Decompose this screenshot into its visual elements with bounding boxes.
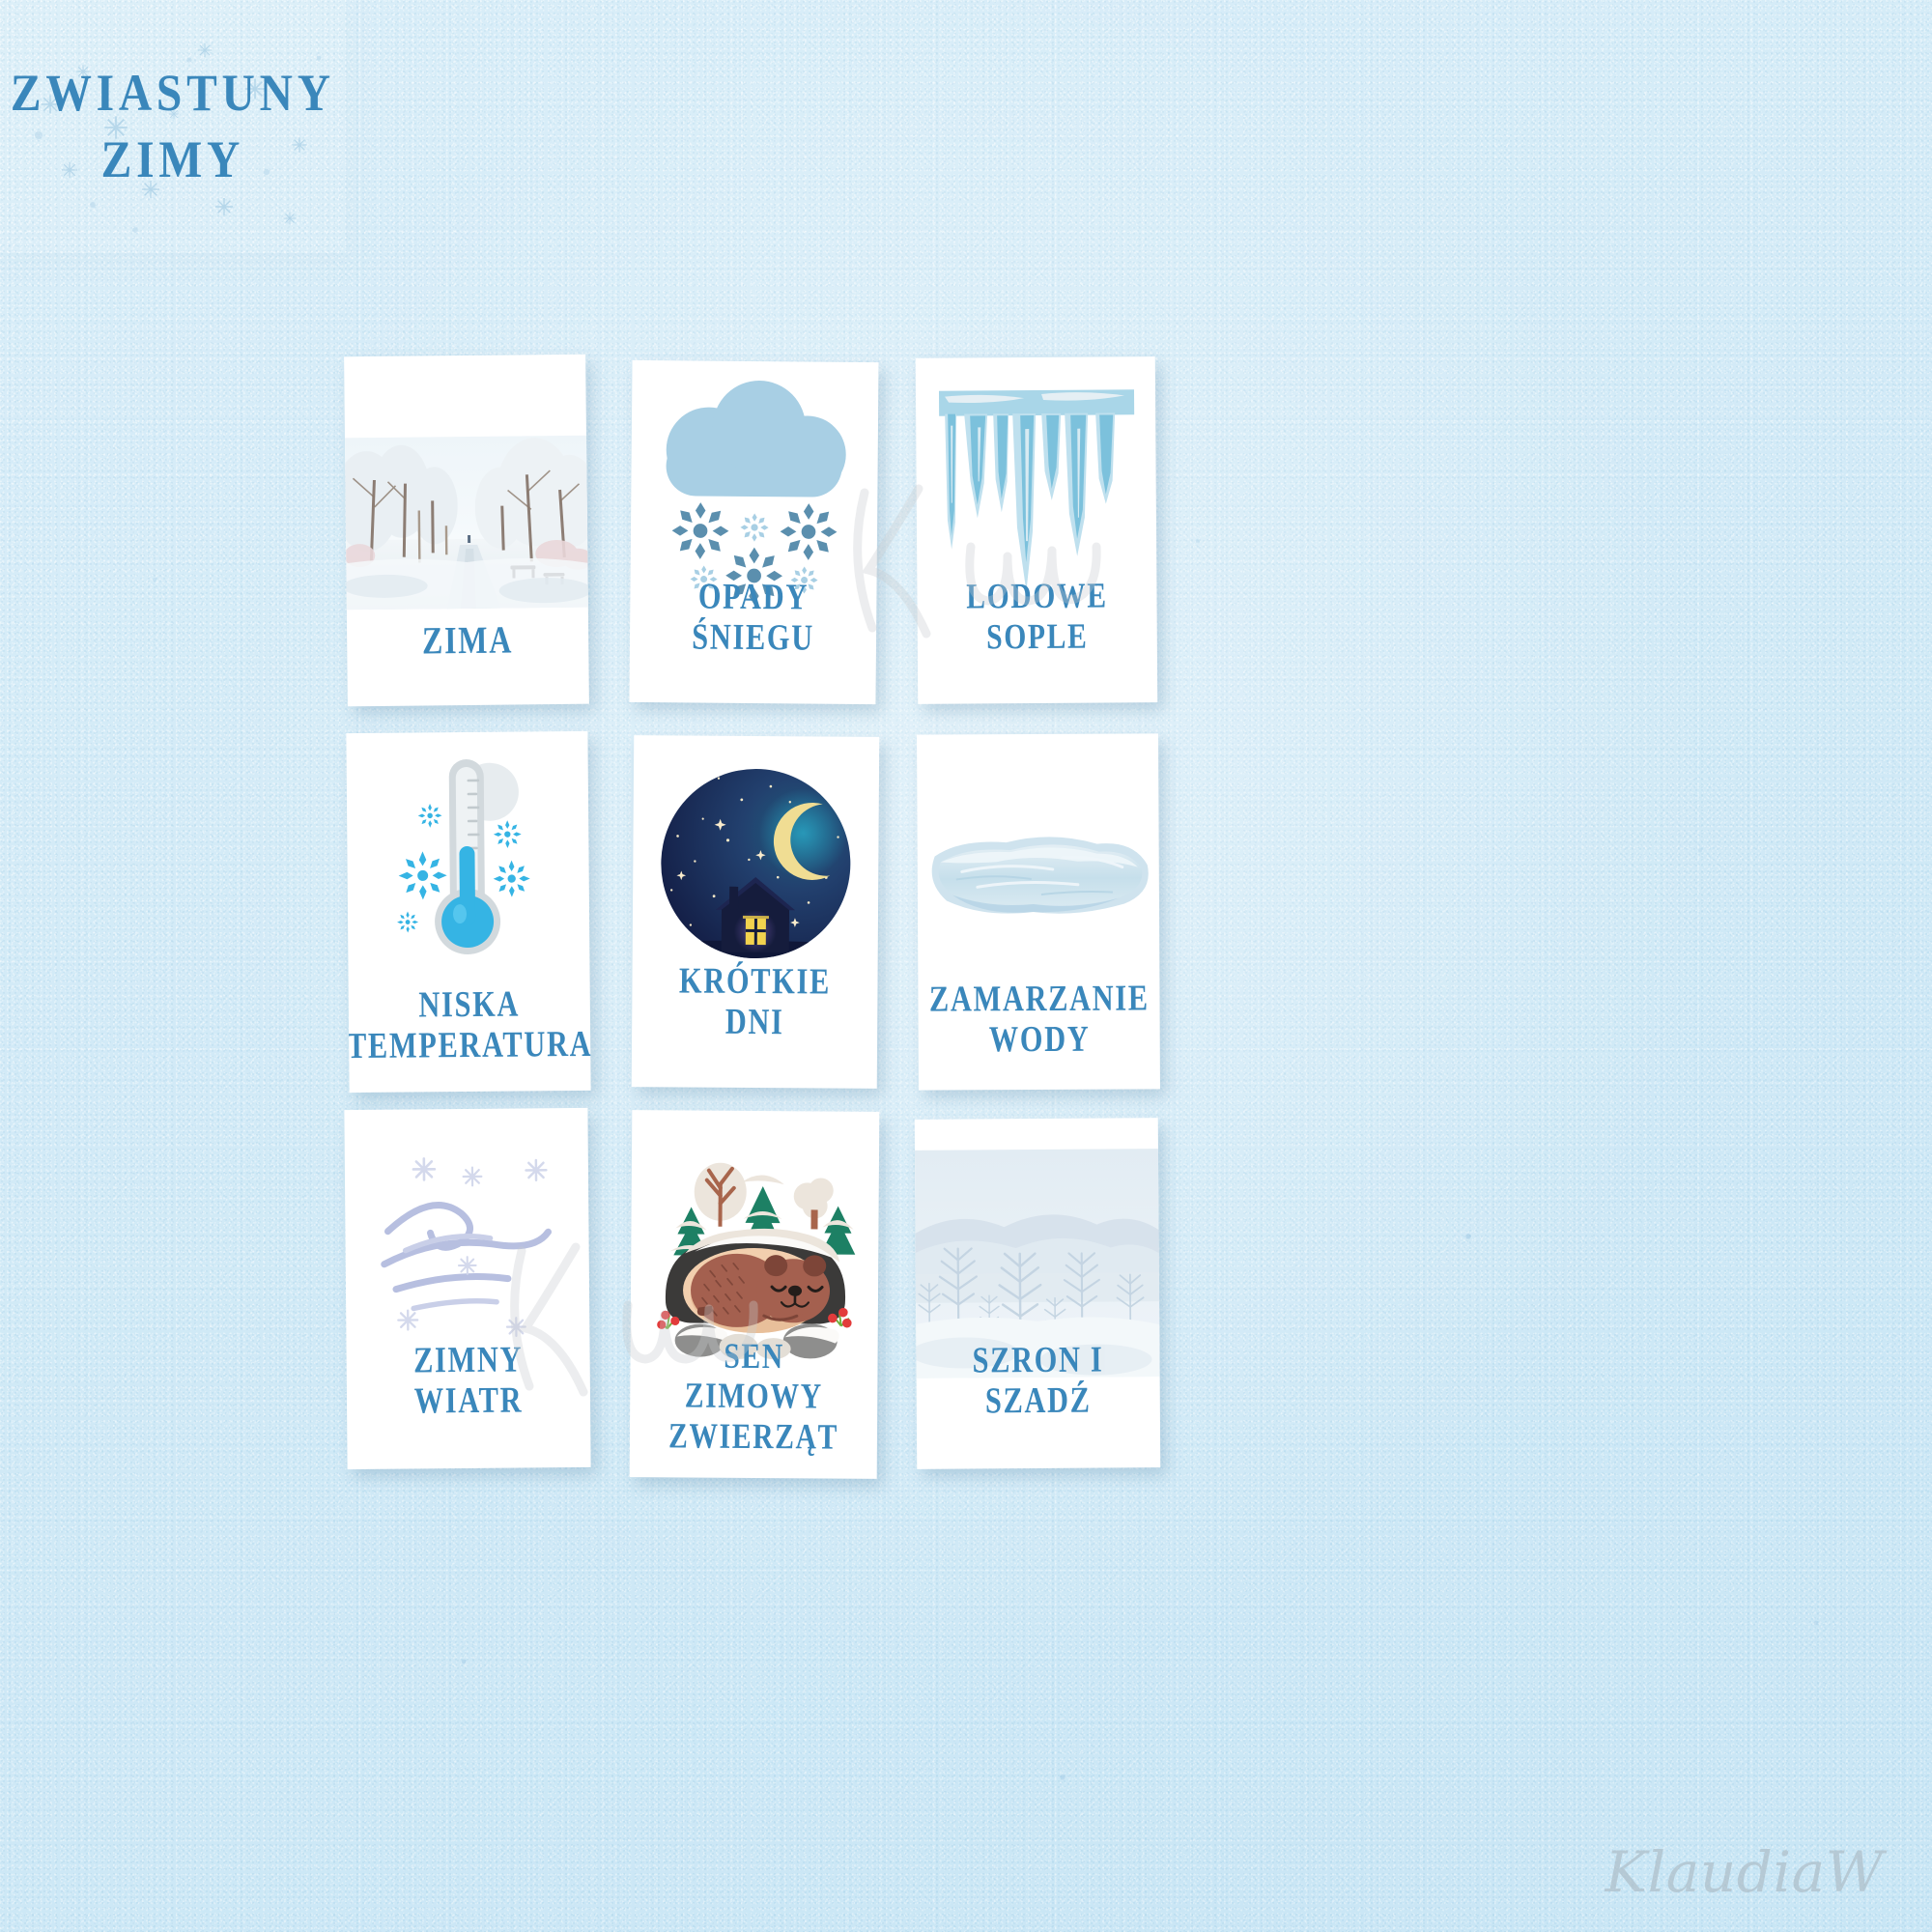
card-art-night-sky <box>633 735 880 962</box>
card-label-zimny-wiatr: ZIMNY WIATR <box>371 1339 567 1469</box>
card-art-frost-landscape <box>915 1118 1160 1341</box>
flashcard-niska-temperatura[interactable]: NISKA TEMPERATURA <box>346 731 590 1093</box>
card-art-zima <box>344 355 588 621</box>
title-line-2: ZIMY <box>11 127 335 193</box>
flashcard-szron-i-szadz[interactable]: SZRON I SZADŹ <box>915 1118 1161 1469</box>
card-art-snowfall <box>631 360 879 578</box>
card-label-lodowe-sople: LODOWE SOPLE <box>941 576 1133 703</box>
card-label-zima: ZIMA <box>422 619 514 706</box>
card-label-niska-temperatura: NISKA TEMPERATURA <box>347 983 591 1093</box>
card-art-icicles <box>916 356 1157 578</box>
flashcard-zimny-wiatr[interactable]: ZIMNY WIATR <box>344 1108 590 1469</box>
title-card-text: ZWIASTUNY ZIMY <box>11 60 335 193</box>
card-art-thermometer <box>346 731 589 985</box>
flashcard-zima[interactable]: ZIMA <box>344 355 589 707</box>
card-label-opady-sniegu: OPADY ŚNIEGU <box>654 576 852 704</box>
card-label-sen-zimowy-zwierzat: SEN ZIMOWY ZWIERZĄT <box>654 1336 853 1479</box>
card-art-frozen-water <box>917 733 1159 979</box>
flashcard-sen-zimowy-zwierzat[interactable]: SEN ZIMOWY ZWIERZĄT <box>630 1110 880 1479</box>
title-card[interactable]: ZWIASTUNY ZIMY <box>0 0 346 253</box>
card-label-szron-i-szadz: SZRON I SZADŹ <box>941 1339 1137 1468</box>
card-art-hibernating-bear <box>631 1110 880 1337</box>
card-label-zamarzanie-wody: ZAMARZANIE WODY <box>928 978 1149 1090</box>
flashcard-zamarzanie-wody[interactable]: ZAMARZANIE WODY <box>917 733 1160 1090</box>
title-line-1: ZWIASTUNY <box>11 60 335 127</box>
card-label-krotkie-dni: KRÓTKIE DNI <box>656 960 853 1089</box>
flashcard-krotkie-dni[interactable]: KRÓTKIE DNI <box>632 735 880 1089</box>
card-art-cold-wind <box>344 1108 589 1341</box>
flashcard-lodowe-sople[interactable]: LODOWE SOPLE <box>916 356 1157 704</box>
flashcard-opady-sniegu[interactable]: OPADY ŚNIEGU <box>629 360 878 704</box>
